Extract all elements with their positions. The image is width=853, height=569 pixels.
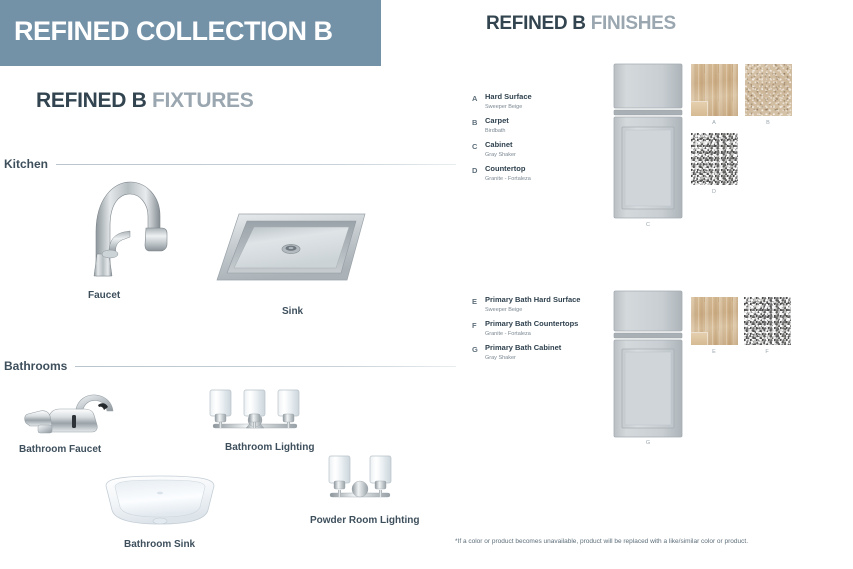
cabinet-door-image-c <box>613 63 683 219</box>
legend-sub: Gray Shaker <box>485 354 561 363</box>
cabinet-door-icon <box>613 290 683 438</box>
caption-powder-room-lighting: Powder Room Lighting <box>310 515 419 526</box>
swatch-letter-f: F <box>757 349 777 355</box>
finishes-legend-main: A Hard Surface Sweeper Beige B Carpet Bi… <box>472 93 532 189</box>
legend-sub: Sweeper Beige <box>485 306 580 315</box>
kitchen-faucet-icon <box>72 168 192 286</box>
finishes-section-heading: REFINED B FINISHES <box>486 13 676 35</box>
caption-bathroom-sink: Bathroom Sink <box>124 539 195 550</box>
caption-sink: Sink <box>282 306 303 317</box>
bathroom-lighting-image <box>196 376 314 438</box>
swatch-carpet-b <box>745 64 792 116</box>
swatch-primary-bath-hard-surface-e <box>691 297 738 345</box>
swatch-letter-b: B <box>758 120 778 126</box>
legend-sub: Birdbath <box>485 127 509 136</box>
legend-sub: Granite - Fortaleza <box>485 175 531 184</box>
divider-line <box>75 366 456 367</box>
legend-item: B Carpet Birdbath <box>472 117 532 135</box>
undermount-sink-icon <box>98 472 222 530</box>
bathroom-sink-image <box>98 472 222 530</box>
plank-accent <box>691 101 708 116</box>
legend-letter: A <box>472 93 485 103</box>
finishes-heading-light: FINISHES <box>591 13 676 34</box>
cabinet-door-image-g <box>613 290 683 438</box>
swatch-letter-c: C <box>638 222 658 228</box>
swatch-hard-surface-a <box>691 64 738 116</box>
swatch-letter-g: G <box>638 440 658 446</box>
swatch-letter-e: E <box>704 349 724 355</box>
legend-letter: C <box>472 141 485 151</box>
swatch-countertop-d <box>691 133 738 185</box>
finishes-legend-primary-bath: E Primary Bath Hard Surface Sweeper Beig… <box>472 296 580 368</box>
fixtures-heading-strong: REFINED B <box>36 89 146 112</box>
legend-letter: F <box>472 320 485 330</box>
legend-sub: Gray Shaker <box>485 151 516 160</box>
legend-item: G Primary Bath Cabinet Gray Shaker <box>472 344 580 362</box>
three-light-vanity-icon <box>196 376 314 438</box>
plank-accent <box>691 332 708 345</box>
swatch-letter-d: D <box>704 189 724 195</box>
legend-letter: B <box>472 117 485 127</box>
footnote-text: *If a color or product becomes unavailab… <box>455 538 748 545</box>
legend-name: Countertop <box>485 165 531 174</box>
room-label-kitchen: Kitchen <box>4 157 56 171</box>
fixtures-heading-light: FIXTURES <box>152 89 253 112</box>
finishes-heading-strong: REFINED B <box>486 13 586 34</box>
legend-name: Primary Bath Countertops <box>485 320 578 329</box>
room-label-bathrooms: Bathrooms <box>4 359 75 373</box>
header-banner: REFINED COLLECTION B <box>0 0 381 66</box>
legend-name: Primary Bath Cabinet <box>485 344 561 353</box>
kitchen-sink-icon <box>213 208 373 288</box>
legend-name: Hard Surface <box>485 93 532 102</box>
legend-name: Cabinet <box>485 141 516 150</box>
legend-sub: Sweeper Beige <box>485 103 532 112</box>
kitchen-sink-image <box>213 208 373 288</box>
kitchen-faucet-image <box>72 168 192 286</box>
room-divider-bathrooms: Bathrooms <box>4 359 456 373</box>
legend-letter: D <box>472 165 485 175</box>
legend-item: D Countertop Granite - Fortaleza <box>472 165 532 183</box>
legend-item: A Hard Surface Sweeper Beige <box>472 93 532 111</box>
divider-line <box>56 164 456 165</box>
caption-bathroom-faucet: Bathroom Faucet <box>19 444 101 455</box>
caption-faucet: Faucet <box>88 290 120 301</box>
bathroom-faucet-image <box>16 386 118 438</box>
legend-name: Carpet <box>485 117 509 126</box>
legend-sub: Granite - Fortaleza <box>485 330 578 339</box>
two-light-vanity-icon <box>308 446 412 508</box>
cabinet-door-icon <box>613 63 683 219</box>
caption-bathroom-lighting: Bathroom Lighting <box>225 442 314 453</box>
legend-item: E Primary Bath Hard Surface Sweeper Beig… <box>472 296 580 314</box>
swatch-primary-bath-countertop-f <box>744 297 791 345</box>
page-title: REFINED COLLECTION B <box>14 16 333 47</box>
legend-letter: G <box>472 344 485 354</box>
legend-letter: E <box>472 296 485 306</box>
legend-item: F Primary Bath Countertops Granite - For… <box>472 320 580 338</box>
swatch-letter-a: A <box>704 120 724 126</box>
bathroom-faucet-icon <box>16 386 118 438</box>
powder-room-lighting-image <box>308 446 412 508</box>
legend-item: C Cabinet Gray Shaker <box>472 141 532 159</box>
fixtures-section-heading: REFINED B FIXTURES <box>36 89 253 113</box>
legend-name: Primary Bath Hard Surface <box>485 296 580 305</box>
